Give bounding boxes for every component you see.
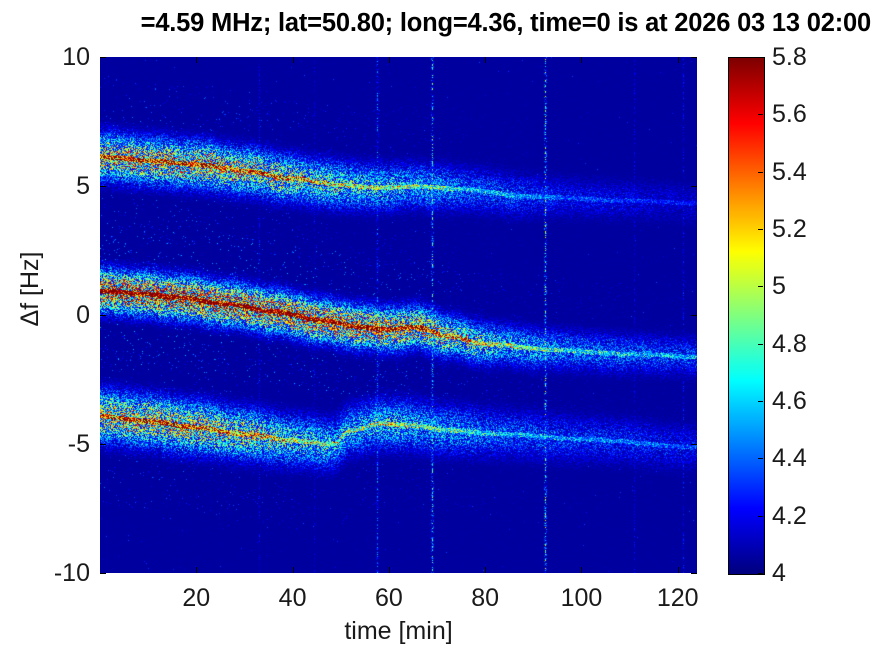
y-tick-label: 5 <box>44 171 90 201</box>
y-tick-label: 0 <box>44 300 90 330</box>
spectrogram-canvas <box>100 57 697 573</box>
colorbar-tick-label: 4.8 <box>772 329 807 359</box>
colorbar-tick-mark <box>758 401 763 402</box>
spectrogram-axes <box>100 57 697 573</box>
y-tick-mark <box>100 315 106 316</box>
colorbar-tick-label: 5 <box>772 271 786 301</box>
colorbar-tick-label: 4.6 <box>772 386 807 416</box>
x-tick-mark <box>581 57 582 63</box>
y-axis-title: Δf [Hz] <box>15 199 45 379</box>
colorbar-tick-mark <box>758 344 763 345</box>
x-tick-label: 120 <box>638 583 718 613</box>
x-tick-mark <box>196 57 197 63</box>
x-tick-mark <box>581 567 582 573</box>
x-tick-mark <box>196 567 197 573</box>
figure-root: =4.59 MHz; lat=50.80; long=4.36, time=0 … <box>0 0 875 656</box>
colorbar-tick-mark <box>758 516 763 517</box>
x-tick-mark <box>293 567 294 573</box>
colorbar-tick-label: 4 <box>772 558 786 588</box>
colorbar-tick-mark <box>758 172 763 173</box>
figure-title: =4.59 MHz; lat=50.80; long=4.36, time=0 … <box>0 6 875 40</box>
x-tick-mark <box>389 57 390 63</box>
x-tick-mark <box>389 567 390 573</box>
colorbar-tick-label: 5.6 <box>772 99 807 129</box>
x-tick-label: 80 <box>445 583 525 613</box>
y-tick-label: -10 <box>44 558 90 588</box>
colorbar <box>728 57 765 575</box>
x-tick-label: 60 <box>349 583 429 613</box>
y-tick-label: 10 <box>44 42 90 72</box>
colorbar-tick-mark <box>758 286 763 287</box>
x-tick-label: 20 <box>156 583 236 613</box>
y-tick-mark <box>691 573 697 574</box>
colorbar-tick-mark <box>758 573 763 574</box>
colorbar-tick-mark <box>758 57 763 58</box>
x-tick-mark <box>485 567 486 573</box>
colorbar-tick-mark <box>758 229 763 230</box>
colorbar-tick-label: 4.2 <box>772 501 807 531</box>
x-tick-label: 40 <box>253 583 333 613</box>
colorbar-tick-label: 4.4 <box>772 443 807 473</box>
y-tick-mark <box>691 315 697 316</box>
y-tick-mark <box>100 186 106 187</box>
colorbar-tick-mark <box>758 458 763 459</box>
x-tick-mark <box>485 57 486 63</box>
colorbar-tick-label: 5.4 <box>772 157 807 187</box>
colorbar-tick-label: 5.8 <box>772 42 807 72</box>
y-tick-mark <box>100 444 106 445</box>
y-tick-mark <box>100 573 106 574</box>
x-tick-mark <box>293 57 294 63</box>
colorbar-tick-label: 5.2 <box>772 214 807 244</box>
x-tick-label: 100 <box>541 583 621 613</box>
y-tick-mark <box>691 444 697 445</box>
x-tick-mark <box>678 57 679 63</box>
colorbar-tick-mark <box>758 114 763 115</box>
y-tick-mark <box>691 57 697 58</box>
colorbar-gradient <box>729 58 764 574</box>
x-axis-title: time [min] <box>100 615 697 647</box>
x-tick-mark <box>678 567 679 573</box>
y-tick-mark <box>691 186 697 187</box>
y-tick-mark <box>100 57 106 58</box>
y-tick-label: -5 <box>44 429 90 459</box>
